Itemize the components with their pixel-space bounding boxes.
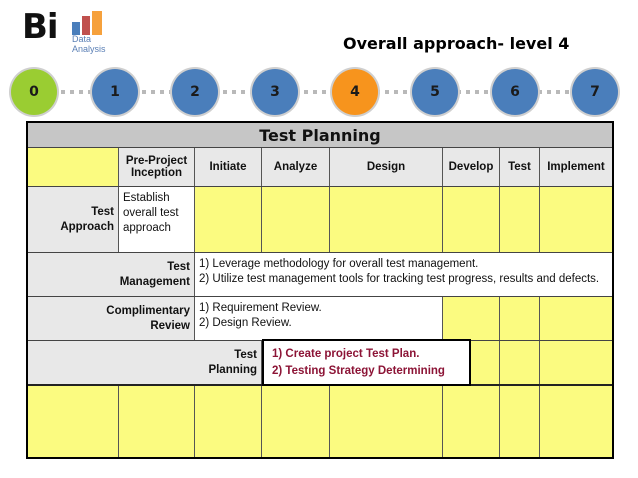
stepper-step-4[interactable]: 4 [332,69,378,115]
row-label-test-management: Test Management [28,253,195,296]
logo-subtitle-line1: Data [72,35,106,44]
test-planning-callout[interactable]: 1) Create project Test Plan. 2) Testing … [262,339,471,386]
header-label-design: Design [367,161,405,173]
cell-empty-blank [28,386,119,457]
cell-test-approach-analyze [262,187,330,252]
cell-empty-design [330,386,443,457]
stepper-step-0[interactable]: 0 [11,69,57,115]
cell-test-management-detail: 1) Leverage methodology for overall test… [195,253,612,296]
cell-test-management-line1: 1) Leverage methodology for overall test… [199,257,608,272]
row-label-complimentary-review-stack: Complimentary Review [106,304,190,334]
header-cell-analyze: Analyze [262,148,330,186]
row-label-test-approach-stack: Test Approach [60,205,114,235]
cell-complimentary-review-test [500,297,540,340]
stepper-step-2[interactable]: 2 [172,69,218,115]
row-label-test-approach: Test Approach [28,187,119,252]
cell-test-approach-detail: Establish overall test approach [123,192,179,234]
test-planning-callout-line2: 2) Testing Strategy Determining [272,363,463,380]
cell-empty-implement [540,386,612,457]
row-label-complimentary-review-line2: Review [106,319,190,334]
stepper-step-1[interactable]: 1 [92,69,138,115]
cell-empty-develop [443,386,500,457]
logo-subtitle: Data Analysis [72,35,106,55]
stepper-step-2-label: 2 [190,84,200,100]
table-band-row: Test Planning [28,123,612,148]
row-label-test-management-line2: Management [120,275,190,290]
logo-subtitle-line2: Analysis [72,45,106,54]
cell-test-approach-initiate [195,187,262,252]
header-label-test: Test [508,161,531,173]
header-label-analyze: Analyze [274,161,317,173]
stepper-step-5-label: 5 [430,84,440,100]
cell-empty-test [500,386,540,457]
cell-complimentary-review-detail: 1) Requirement Review. 2) Design Review. [195,297,443,340]
stepper-step-6-label: 6 [510,84,520,100]
cell-test-approach-test [500,187,540,252]
table-row-complimentary-review: Complimentary Review 1) Requirement Revi… [28,297,612,341]
row-label-test-planning: Test Planning [28,341,262,384]
header-label-develop: Develop [449,161,494,173]
table-row-empty [28,386,612,457]
brand-logo: Bi Data Analysis [22,8,132,54]
logo-bar-2-icon [82,16,90,35]
cell-complimentary-review-develop [443,297,500,340]
row-label-test-management-stack: Test Management [120,260,190,290]
stepper-step-5[interactable]: 5 [412,69,458,115]
row-label-test-approach-line1: Test [60,205,114,220]
header-cell-test: Test [500,148,540,186]
logo-wordmark: Bi [22,10,58,44]
header-cell-initiate: Initiate [195,148,262,186]
cell-empty-pre-project [119,386,195,457]
stepper-step-7[interactable]: 7 [572,69,618,115]
stepper-step-6[interactable]: 6 [492,69,538,115]
stepper-step-4-label: 4 [350,84,360,100]
header-label-pre-project-inception: Pre-Project Inception [123,155,190,179]
stepper-step-1-label: 1 [110,84,120,100]
row-label-test-planning-line1: Test [208,348,257,363]
approach-matrix-table: Test Planning Pre-Project Inception Init… [26,121,614,459]
stepper-step-7-label: 7 [590,84,600,100]
header-cell-design: Design [330,148,443,186]
slide-root: Bi Data Analysis Overall approach- level… [0,0,638,478]
header-label-implement: Implement [547,161,605,173]
header-cell-implement: Implement [540,148,612,186]
cell-complimentary-review-line1: 1) Requirement Review. [199,301,438,316]
cell-test-planning-implement [540,341,612,384]
stepper-step-3[interactable]: 3 [252,69,298,115]
cell-empty-analyze [262,386,330,457]
cell-test-management-line2: 2) Utilize test management tools for tra… [199,272,608,287]
stepper-step-3-label: 3 [270,84,280,100]
cell-complimentary-review-implement [540,297,612,340]
band-title-cell: Test Planning [28,123,612,147]
header-cell-pre-project-inception: Pre-Project Inception [119,148,195,186]
logo-bar-3-icon [92,11,102,35]
band-title-label: Test Planning [259,126,381,145]
cell-test-approach-pre-project: Establish overall test approach [119,187,195,252]
row-label-test-planning-stack: Test Planning [208,348,257,378]
cell-complimentary-review-line2: 2) Design Review. [199,316,438,331]
cell-test-approach-design [330,187,443,252]
row-label-test-planning-line2: Planning [208,363,257,378]
cell-empty-initiate [195,386,262,457]
row-label-complimentary-review: Complimentary Review [28,297,195,340]
row-label-test-approach-line2: Approach [60,220,114,235]
row-label-test-management-line1: Test [120,260,190,275]
table-row-test-management: Test Management 1) Leverage methodology … [28,253,612,297]
row-label-complimentary-review-line1: Complimentary [106,304,190,319]
table-row-test-approach: Test Approach Establish overall test app… [28,187,612,253]
phase-stepper: 0 1 2 3 4 5 6 7 [0,69,638,117]
cell-test-approach-implement [540,187,612,252]
cell-test-approach-develop [443,187,500,252]
cell-test-planning-test [500,341,540,384]
stepper-step-0-label: 0 [29,84,39,100]
header-cell-blank [28,148,119,186]
test-planning-callout-line1: 1) Create project Test Plan. [272,346,463,363]
header-label-initiate: Initiate [209,161,246,173]
table-header-row: Pre-Project Inception Initiate Analyze D… [28,148,612,187]
page-title: Overall approach- level 4 [343,34,569,53]
header-cell-develop: Develop [443,148,500,186]
